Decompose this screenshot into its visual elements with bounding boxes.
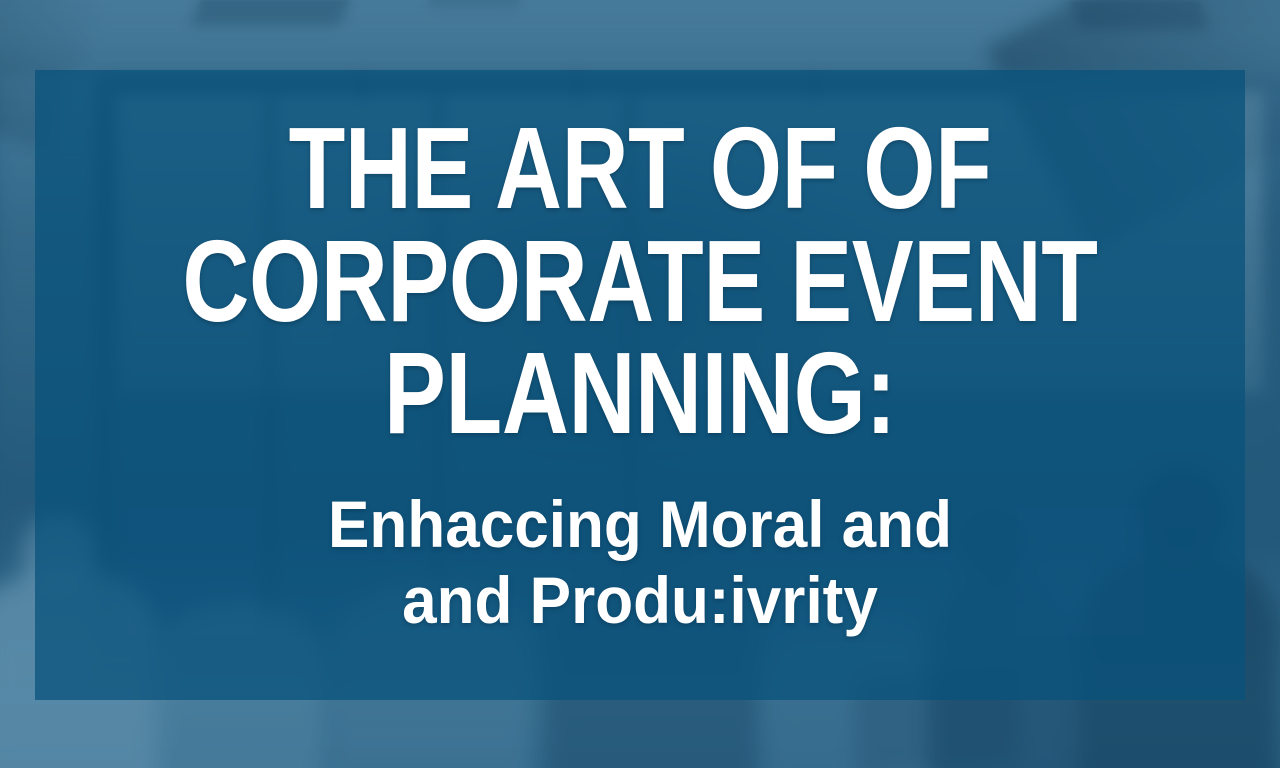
slide-canvas: THE ART OF OF CORPORATE EVENT PLANNING: …: [0, 0, 1280, 768]
headline-line-1: THE ART OF OF: [156, 112, 1124, 225]
subtitle-line-1: Enhaccing Moral and: [71, 486, 1208, 563]
headline-line-3: PLANNING:: [156, 337, 1124, 450]
title-overlay-panel: THE ART OF OF CORPORATE EVENT PLANNING: …: [35, 70, 1245, 700]
headline: THE ART OF OF CORPORATE EVENT PLANNING:: [156, 112, 1124, 450]
subtitle-block: Enhaccing Moral and and Produ:ivrity: [35, 486, 1245, 639]
headline-line-2: CORPORATE EVENT: [156, 225, 1124, 338]
subtitle-line-2: and Produ:ivrity: [71, 562, 1208, 639]
subtitle: Enhaccing Moral and and Produ:ivrity: [71, 486, 1208, 639]
headline-block: THE ART OF OF CORPORATE EVENT PLANNING:: [35, 112, 1245, 450]
